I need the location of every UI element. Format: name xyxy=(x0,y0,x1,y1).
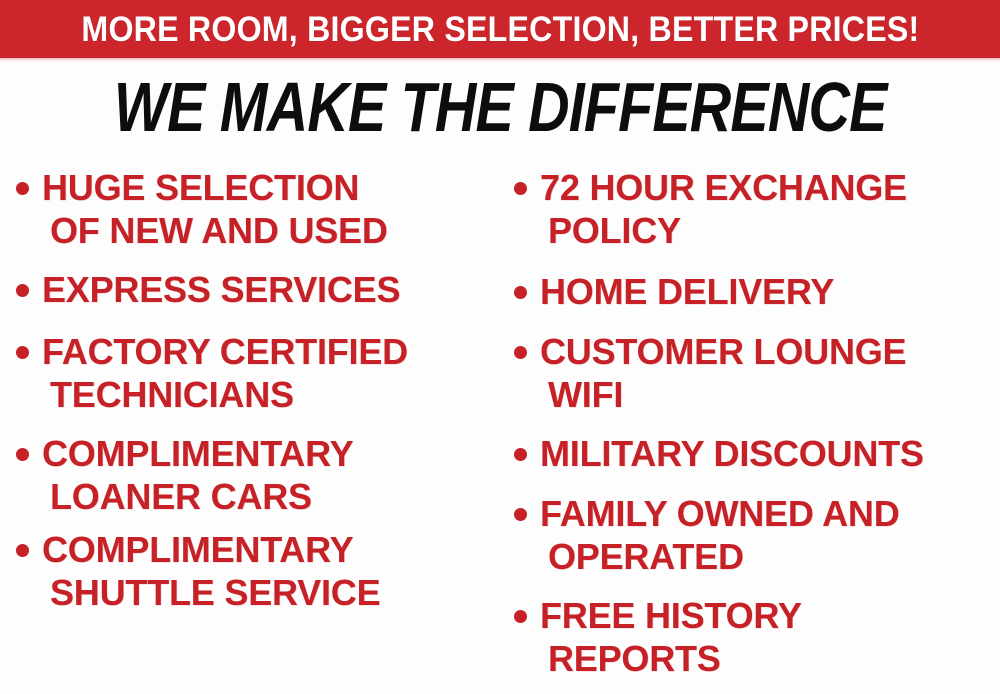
list-item-line2: OF NEW AND USED xyxy=(50,209,388,252)
list-item-line2: POLICY xyxy=(548,209,907,252)
top-banner: MORE ROOM, BIGGER SELECTION, BETTER PRIC… xyxy=(0,0,1000,58)
list-item: HOME DELIVERY xyxy=(514,270,834,313)
list-item-line1: FACTORY CERTIFIED xyxy=(42,331,408,372)
list-item-text: MILITARY DISCOUNTS xyxy=(540,432,924,475)
features-column-right: 72 HOUR EXCHANGE POLICY HOME DELIVERY CU… xyxy=(514,158,1000,694)
list-item-text: FACTORY CERTIFIED TECHNICIANS xyxy=(42,330,408,416)
bullet-dot-icon xyxy=(16,448,29,461)
list-item: FAMILY OWNED AND OPERATED xyxy=(514,492,900,578)
banner-headline-text: MORE ROOM, BIGGER SELECTION, BETTER PRIC… xyxy=(81,12,919,47)
list-item-line2: REPORTS xyxy=(548,637,802,680)
list-item: FACTORY CERTIFIED TECHNICIANS xyxy=(16,330,408,416)
list-item-line1: 72 HOUR EXCHANGE xyxy=(540,167,907,208)
bullet-dot-icon xyxy=(16,346,29,359)
headline-container: WE MAKE THE DIFFERENCE xyxy=(0,66,1000,148)
bullet-dot-icon xyxy=(514,448,527,461)
list-item-line2: SHUTTLE SERVICE xyxy=(50,571,380,614)
list-item: COMPLIMENTARY LOANER CARS xyxy=(16,432,353,518)
list-item-line1: FREE HISTORY xyxy=(540,595,802,636)
list-item: CUSTOMER LOUNGE WIFI xyxy=(514,330,906,416)
list-item-line1: FAMILY OWNED AND xyxy=(540,493,900,534)
bullet-dot-icon xyxy=(514,286,527,299)
list-item-text: HOME DELIVERY xyxy=(540,270,834,313)
list-item-text: HUGE SELECTION OF NEW AND USED xyxy=(42,166,388,252)
list-item-line1: CUSTOMER LOUNGE xyxy=(540,331,906,372)
list-item-line2: OPERATED xyxy=(548,535,900,578)
list-item-line2: WIFI xyxy=(548,373,906,416)
bullet-dot-icon xyxy=(16,544,29,557)
list-item: HUGE SELECTION OF NEW AND USED xyxy=(16,166,388,252)
list-item-text: 72 HOUR EXCHANGE POLICY xyxy=(540,166,907,252)
bullet-dot-icon xyxy=(514,182,527,195)
list-item-line1: MILITARY DISCOUNTS xyxy=(540,433,924,474)
list-item-text: EXPRESS SERVICES xyxy=(42,268,400,311)
list-item-line1: HOME DELIVERY xyxy=(540,271,834,312)
list-item: 72 HOUR EXCHANGE POLICY xyxy=(514,166,907,252)
list-item: FREE HISTORY REPORTS xyxy=(514,594,802,680)
banner-underline-divider xyxy=(0,58,1000,62)
list-item-line1: HUGE SELECTION xyxy=(42,167,359,208)
bullet-dot-icon xyxy=(514,346,527,359)
list-item-line2: LOANER CARS xyxy=(50,475,353,518)
list-item: MILITARY DISCOUNTS xyxy=(514,432,924,475)
list-item-text: FAMILY OWNED AND OPERATED xyxy=(540,492,900,578)
bullet-dot-icon xyxy=(16,182,29,195)
list-item-text: COMPLIMENTARY LOANER CARS xyxy=(42,432,353,518)
list-item-text: CUSTOMER LOUNGE WIFI xyxy=(540,330,906,416)
promotional-poster: MORE ROOM, BIGGER SELECTION, BETTER PRIC… xyxy=(0,0,1000,694)
list-item: EXPRESS SERVICES xyxy=(16,268,400,311)
features-column-left: HUGE SELECTION OF NEW AND USED EXPRESS S… xyxy=(16,158,502,694)
list-item-text: COMPLIMENTARY SHUTTLE SERVICE xyxy=(42,528,380,614)
list-item: COMPLIMENTARY SHUTTLE SERVICE xyxy=(16,528,380,614)
list-item-line1: COMPLIMENTARY xyxy=(42,433,353,474)
list-item-line1: COMPLIMENTARY xyxy=(42,529,353,570)
list-item-text: FREE HISTORY REPORTS xyxy=(540,594,802,680)
bullet-dot-icon xyxy=(514,508,527,521)
features-columns: HUGE SELECTION OF NEW AND USED EXPRESS S… xyxy=(0,158,1000,694)
bullet-dot-icon xyxy=(16,284,29,297)
list-item-line2: TECHNICIANS xyxy=(50,373,408,416)
page-title: WE MAKE THE DIFFERENCE xyxy=(114,72,887,142)
bullet-dot-icon xyxy=(514,610,527,623)
list-item-line1: EXPRESS SERVICES xyxy=(42,269,400,310)
